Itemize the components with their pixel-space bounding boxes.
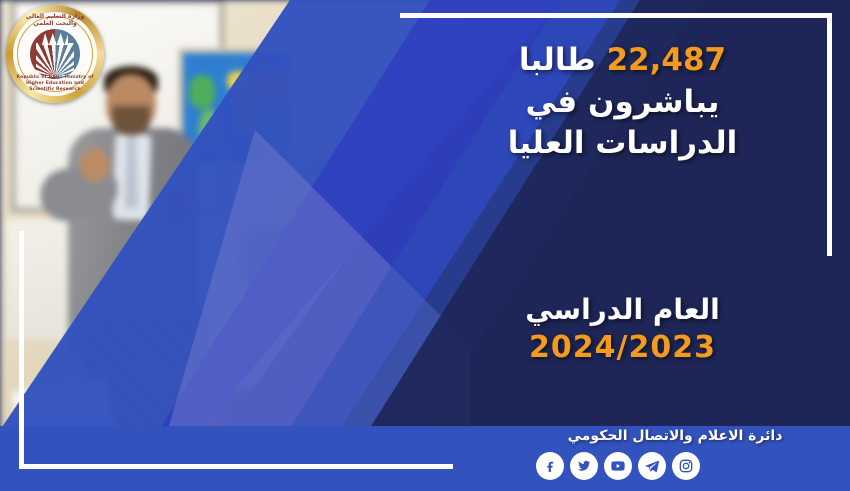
telegram-icon[interactable] — [638, 452, 666, 480]
academic-year-label: العام الدراسي — [430, 292, 815, 328]
headline-block: 22,487 طالبا يباشرون في الدراسات العليا — [430, 40, 815, 165]
social-links — [536, 452, 700, 480]
logo-english-text: Republic of Iraq · Ministry of Higher Ed… — [14, 75, 96, 93]
headline-line-2: يباشرون في — [430, 82, 815, 124]
youtube-icon[interactable] — [604, 452, 632, 480]
instagram-icon[interactable] — [672, 452, 700, 480]
academic-year-block: العام الدراسي 2024/2023 — [430, 292, 815, 367]
twitter-icon[interactable] — [570, 452, 598, 480]
headline-line-3: الدراسات العليا — [430, 123, 815, 165]
logo-emblem — [30, 29, 80, 79]
announcement-banner: وزارة التعليم العالي والبحث العلمي Repub… — [0, 0, 850, 491]
department-name: دائرة الاعلام والاتصال الحكومي — [510, 428, 840, 444]
headline-line-1: 22,487 طالبا — [430, 40, 815, 82]
headline-line-1-word: طالبا — [519, 42, 596, 78]
academic-year-value: 2024/2023 — [430, 328, 815, 367]
ministry-logo: وزارة التعليم العالي والبحث العلمي Repub… — [6, 5, 104, 103]
facebook-icon[interactable] — [536, 452, 564, 480]
student-count: 22,487 — [606, 42, 726, 78]
